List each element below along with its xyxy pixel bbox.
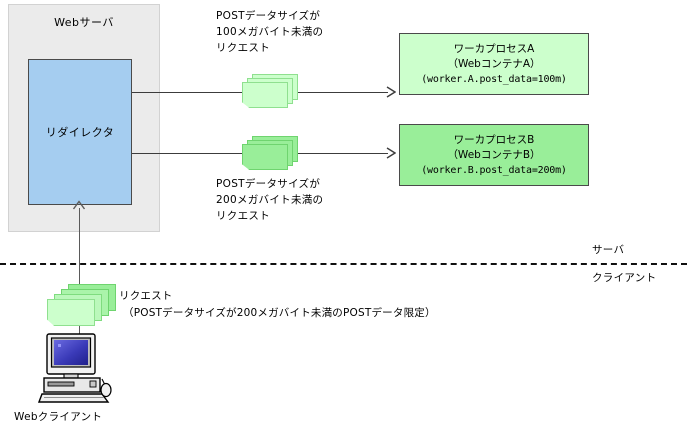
worker-a-line1: ワーカプロセスA <box>454 42 535 57</box>
diagram-canvas: Webサーバ リダイレクタ POSTデータサイズが 100メガバイト未満の リク… <box>0 0 687 431</box>
request-doc-icon-200m <box>238 136 304 174</box>
flow-label-200m-line2: 200メガバイト未満の <box>216 192 323 208</box>
client-request-label-line2: （POSTデータサイズが200メガバイト未満のPOSTデータ限定） <box>119 305 436 322</box>
client-request-doc-icon <box>46 284 126 328</box>
flow-label-200m-line3: リクエスト <box>216 208 323 224</box>
arrowhead-redirector-inbound <box>72 200 86 210</box>
request-doc-icon-100m <box>238 74 304 112</box>
worker-a-line3: (worker.A.post_data=100m) <box>421 72 567 87</box>
arrowhead-worker-a <box>386 86 396 98</box>
web-client-caption: Webクライアント <box>14 409 102 424</box>
zone-label-client: クライアント <box>592 270 656 285</box>
flow-label-100m-line1: POSTデータサイズが <box>216 8 323 24</box>
flow-label-200m-line1: POSTデータサイズが <box>216 176 323 192</box>
worker-b-line3: (worker.B.post_data=200m) <box>421 163 567 178</box>
worker-process-b-box: ワーカプロセスB （WebコンテナB） (worker.B.post_data=… <box>399 124 589 186</box>
worker-b-line1: ワーカプロセスB <box>454 133 535 148</box>
web-client-computer-icon <box>38 333 114 403</box>
zone-label-server: サーバ <box>592 242 624 257</box>
flow-label-100m: POSTデータサイズが 100メガバイト未満の リクエスト <box>216 8 323 56</box>
worker-a-line2: （WebコンテナA） <box>447 57 540 72</box>
worker-b-line2: （WebコンテナB） <box>447 148 540 163</box>
client-request-label-line1: リクエスト <box>119 288 436 305</box>
flow-label-200m: POSTデータサイズが 200メガバイト未満の リクエスト <box>216 176 323 224</box>
client-request-label: リクエスト （POSTデータサイズが200メガバイト未満のPOSTデータ限定） <box>119 288 436 322</box>
redirector-label: リダイレクタ <box>28 124 132 140</box>
web-server-zone-label: Webサーバ <box>8 14 160 30</box>
worker-process-a-box: ワーカプロセスA （WebコンテナA） (worker.A.post_data=… <box>399 33 589 95</box>
flow-label-100m-line2: 100メガバイト未満の <box>216 24 323 40</box>
flow-label-100m-line3: リクエスト <box>216 40 323 56</box>
server-client-divider <box>0 263 687 265</box>
arrowhead-worker-b <box>386 147 396 159</box>
